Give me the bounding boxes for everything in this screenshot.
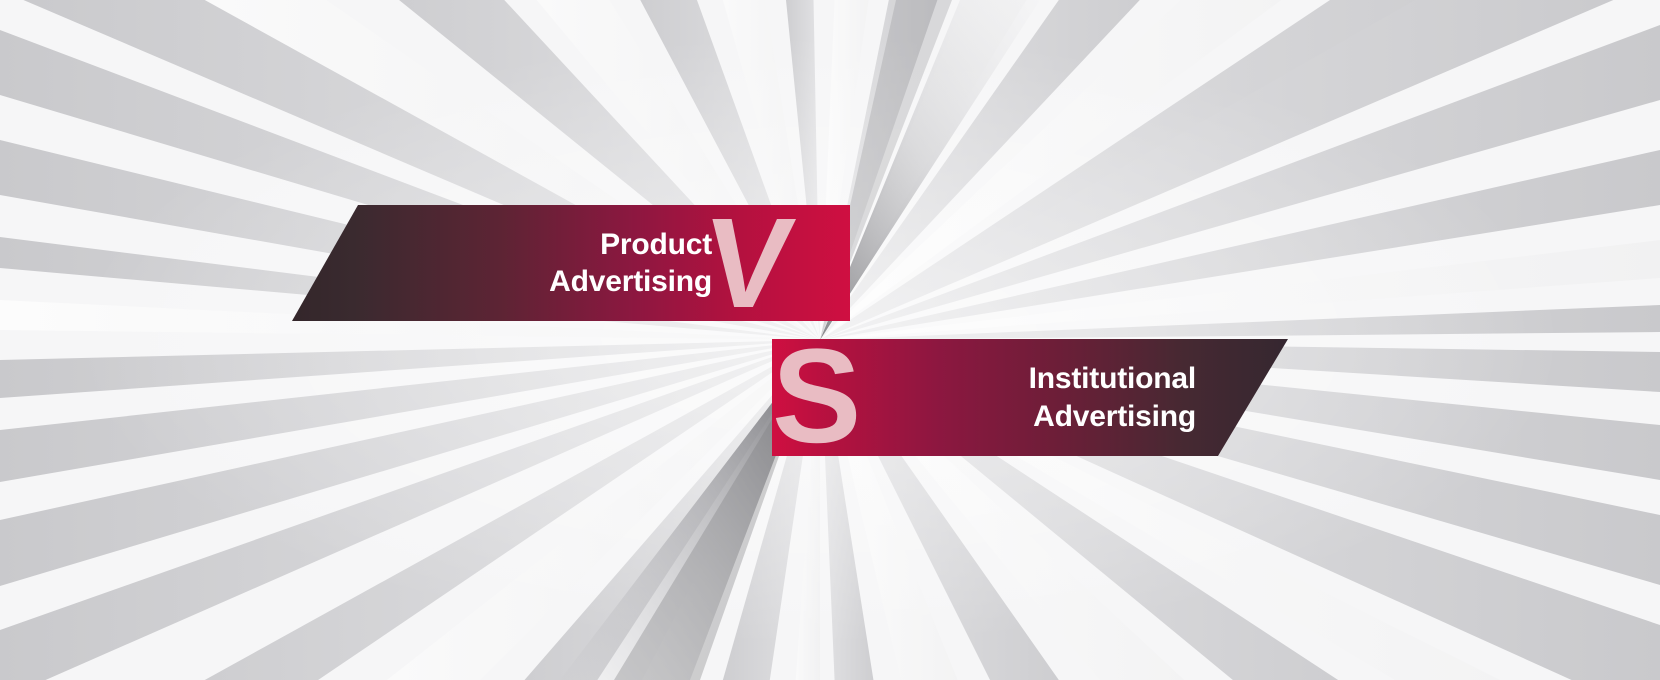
left-banner-title: Product Advertising xyxy=(366,226,832,300)
right-banner-institutional-advertising: Institutional Advertising xyxy=(772,339,1288,456)
left-banner-product-advertising: Product Advertising xyxy=(286,205,850,321)
versus-banner-graphic: Product Advertising V Institutional Adve… xyxy=(0,0,1660,680)
right-banner-title: Institutional Advertising xyxy=(790,360,1202,434)
